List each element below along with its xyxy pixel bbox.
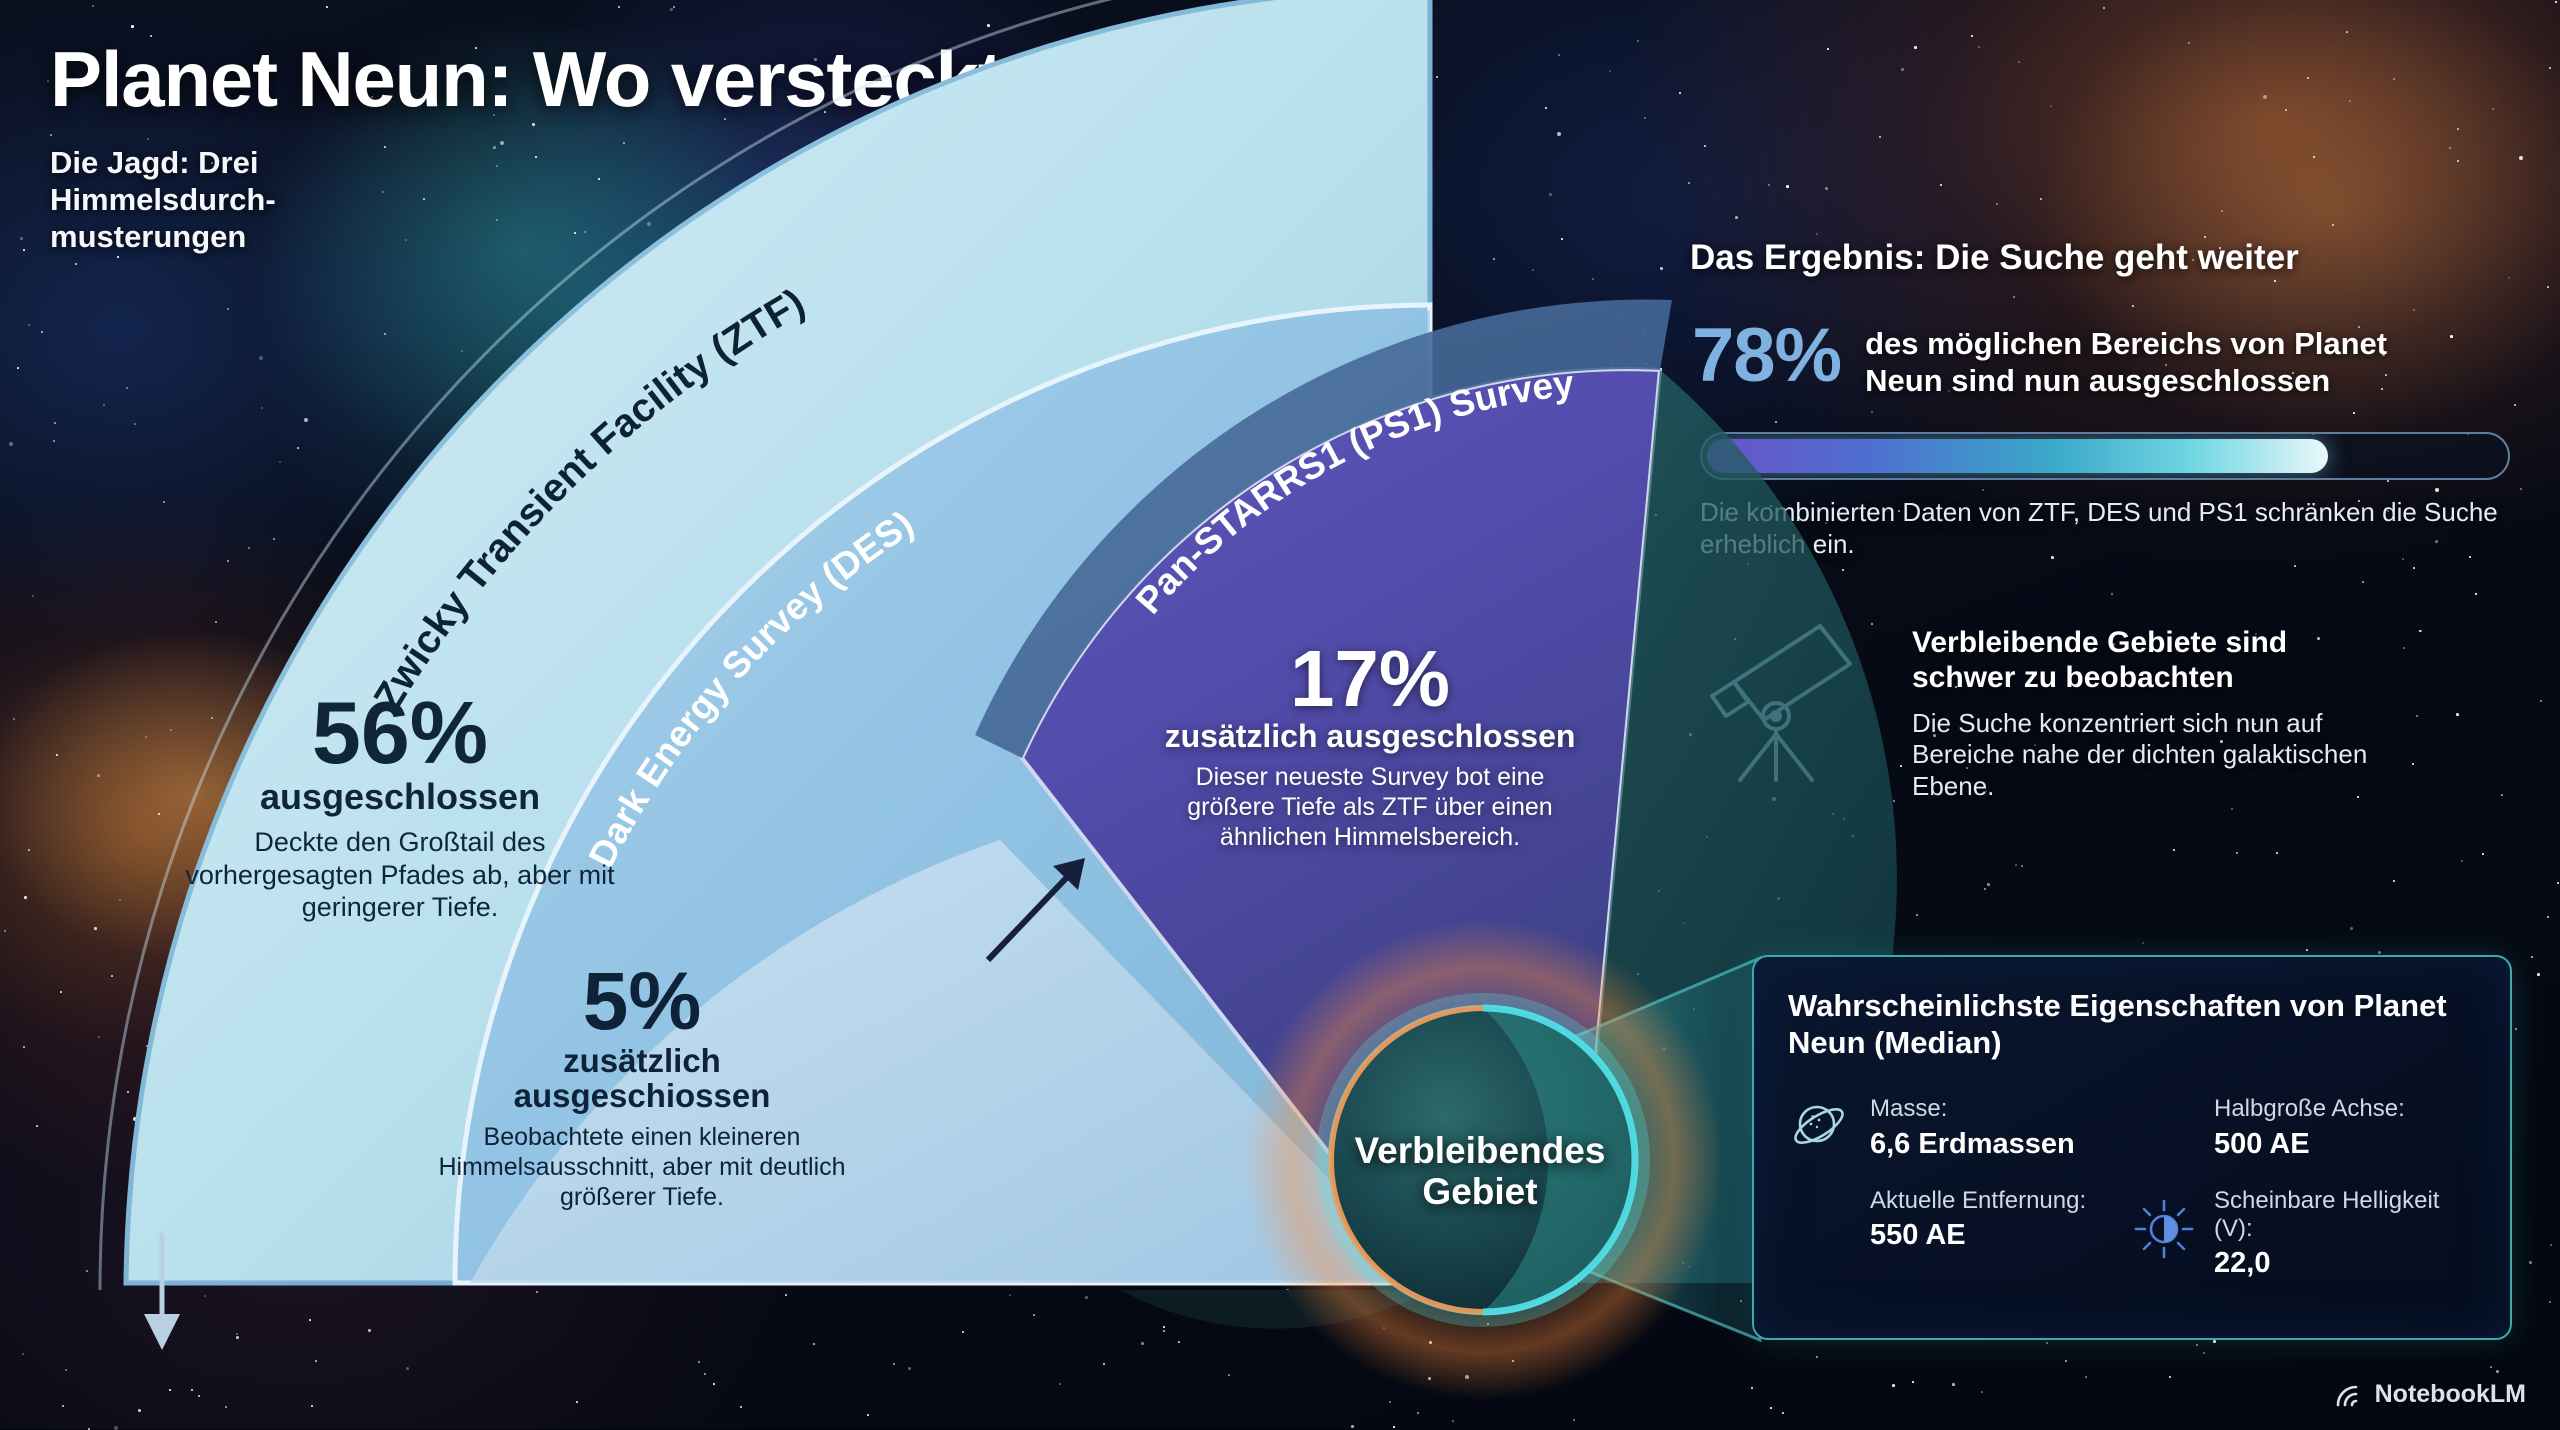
property-brightness-label: Scheinbare Helligkeit (V): — [2214, 1187, 2476, 1244]
property-distance-label: Aktuelle Entfernung: — [1870, 1187, 2086, 1215]
watermark-label: NotebookLM — [2375, 1380, 2526, 1409]
notebooklm-watermark: NotebookLM — [2335, 1380, 2526, 1409]
properties-card: Wahrscheinlichste Eigenschaften von Plan… — [1752, 955, 2512, 1340]
property-distance: Aktuelle Entfernung: 550 AE — [1788, 1187, 2132, 1281]
property-distance-value: 550 AE — [1870, 1219, 2086, 1252]
planet-area-label: Verbleibendes Gebiet — [1300, 1130, 1660, 1213]
property-brightness-value: 22,0 — [2214, 1247, 2476, 1280]
property-semimajor-axis-label: Halbgroße Achse: — [2214, 1095, 2405, 1123]
properties-grid: Masse: 6,6 Erdmassen Halbgroße Achse: 50… — [1788, 1095, 2476, 1280]
planet-icon — [1788, 1095, 1852, 1159]
property-mass: Masse: 6,6 Erdmassen — [1788, 1095, 2132, 1160]
brightness-icon — [2132, 1187, 2196, 1251]
property-mass-value: 6,6 Erdmassen — [1870, 1128, 2075, 1161]
properties-card-title: Wahrscheinlichste Eigenschaften von Plan… — [1788, 987, 2476, 1061]
property-mass-label: Masse: — [1870, 1095, 2075, 1123]
property-semimajor-axis: Halbgroße Achse: 500 AE — [2132, 1095, 2476, 1160]
distance-icon — [1788, 1187, 1852, 1251]
orbit-icon — [2132, 1095, 2196, 1159]
property-semimajor-axis-value: 500 AE — [2214, 1128, 2405, 1161]
notebooklm-logo-icon — [2335, 1382, 2365, 1408]
property-brightness: Scheinbare Helligkeit (V): 22,0 — [2132, 1187, 2476, 1281]
